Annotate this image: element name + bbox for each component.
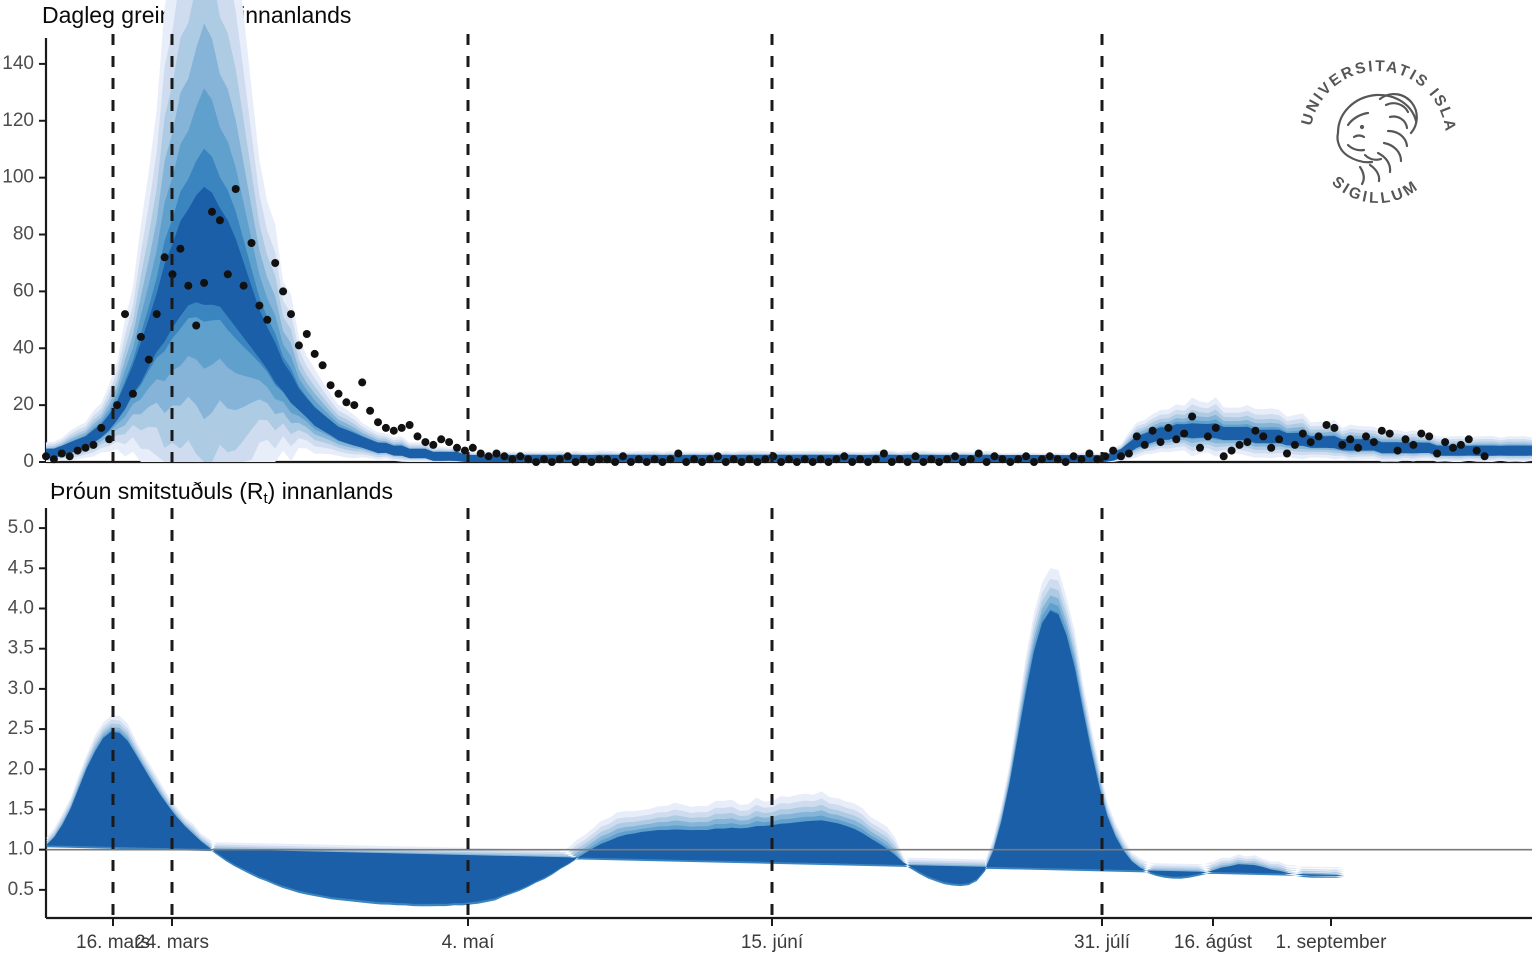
university-of-iceland-seal-icon: UNIVERSITATIS ISLANDIAE SIGILLUM [1283, 47, 1473, 227]
svg-text:2.5: 2.5 [8, 718, 34, 739]
svg-text:UNIVERSITATIS ISLANDIAE: UNIVERSITATIS ISLANDIAE [1283, 47, 1459, 134]
svg-text:0: 0 [23, 451, 34, 472]
svg-text:20: 20 [13, 394, 34, 415]
svg-text:3.0: 3.0 [8, 678, 34, 699]
x-tick-label-1: 24. mars [135, 932, 209, 953]
svg-text:1.5: 1.5 [8, 798, 34, 819]
svg-text:80: 80 [13, 224, 34, 245]
x-tick-label-4: 31. júlí [1074, 932, 1131, 953]
svg-text:40: 40 [13, 337, 34, 358]
svg-text:100: 100 [2, 167, 34, 188]
svg-text:140: 140 [2, 53, 34, 74]
svg-text:3.5: 3.5 [8, 638, 34, 659]
svg-text:5.0: 5.0 [8, 517, 34, 538]
svg-text:SIGILLUM: SIGILLUM [1329, 173, 1423, 207]
svg-text:2.0: 2.0 [8, 758, 34, 779]
svg-text:1.0: 1.0 [8, 839, 34, 860]
x-tick-label-3: 15. júní [741, 932, 804, 953]
svg-text:60: 60 [13, 280, 34, 301]
svg-text:0.5: 0.5 [8, 879, 34, 900]
rt-plot: 0.51.01.52.02.53.03.54.04.55.016. mars24… [0, 478, 1536, 954]
svg-text:4.0: 4.0 [8, 598, 34, 619]
svg-text:4.5: 4.5 [8, 557, 34, 578]
x-tick-label-6: 1. september [1276, 932, 1388, 953]
panel-reproduction-number: Þróun smitstuðuls (Rt) innanlands 0.51.0… [0, 478, 1536, 954]
x-tick-label-5: 16. ágúst [1174, 932, 1253, 953]
chart-page: Dagleg greind smit innanlands 0204060801… [0, 0, 1536, 954]
x-tick-label-2: 4. maí [442, 932, 496, 953]
svg-text:120: 120 [2, 110, 34, 131]
